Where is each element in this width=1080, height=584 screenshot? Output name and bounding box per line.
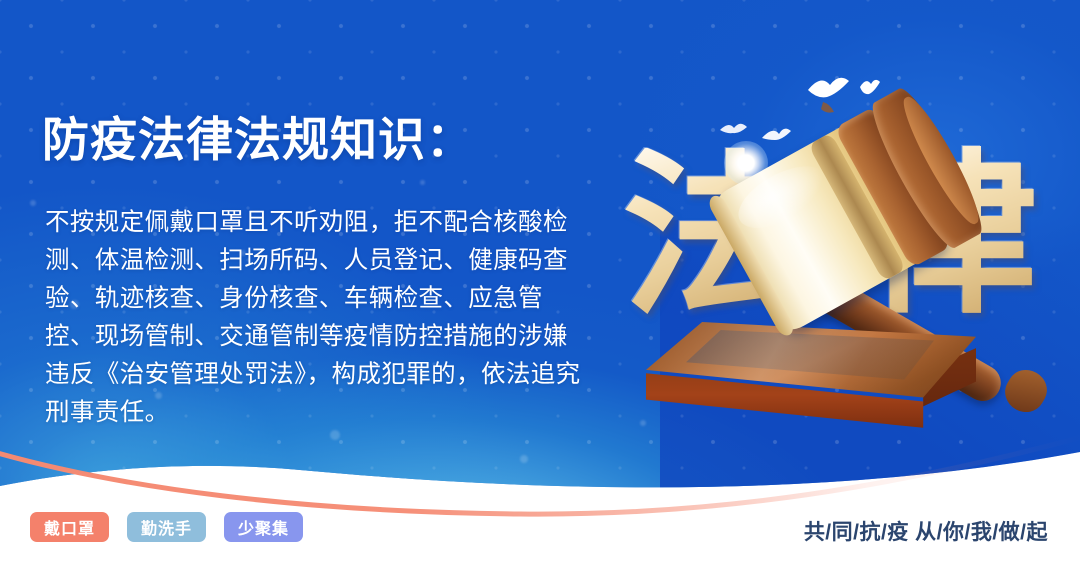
- flying-doves-icon: [690, 52, 900, 147]
- badge-wash-hands[interactable]: 勤洗手: [127, 512, 206, 542]
- page-title: 防疫法律法规知识：: [42, 113, 474, 168]
- sounding-block-icon: [646, 322, 976, 462]
- badge-avoid-gathering[interactable]: 少聚集: [224, 512, 303, 542]
- poster-canvas: 法 律: [0, 0, 1080, 584]
- body-text: 不按规定佩戴口罩且不听劝阻，拒不配合核酸检测、体温检测、扫场所码、人员登记、健康…: [45, 204, 585, 432]
- prevention-badge-group: 戴口罩 勤洗手 少聚集: [30, 512, 303, 542]
- badge-wear-mask[interactable]: 戴口罩: [30, 512, 109, 542]
- slogan-text: 共/同/抗/疫 从/你/我/做/起: [804, 516, 1048, 546]
